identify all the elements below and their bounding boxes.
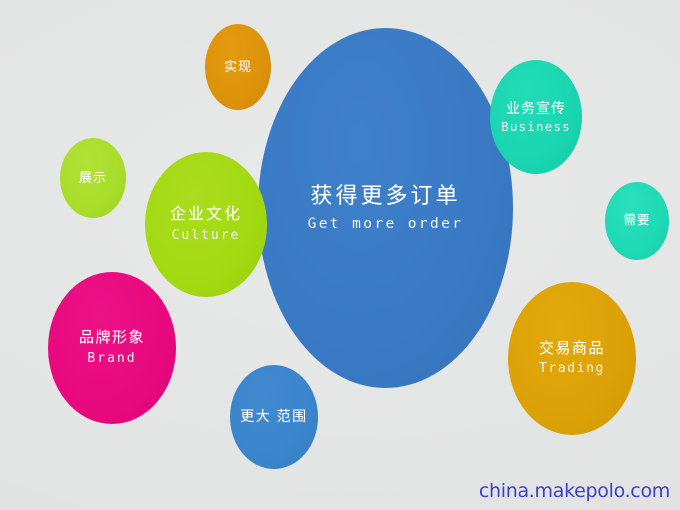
bubble-get-more-order[interactable]: 获得更多订单 Get more order <box>258 28 513 388</box>
bubble-label-en: Culture <box>172 228 241 244</box>
bubble-label-cn: 实现 <box>224 59 252 75</box>
bubble-label-cn: 展示 <box>79 170 107 186</box>
bubble-label-en: Brand <box>87 351 136 367</box>
watermark: china.makepolo.com <box>479 480 670 502</box>
bubble-label-en: Business <box>501 119 571 134</box>
bubble-xuyao[interactable]: 需要 <box>605 182 669 260</box>
bubble-label-cn: 业务宣传 <box>506 100 566 117</box>
bubble-label-cn: 需要 <box>623 213 650 228</box>
bubble-label-cn: 品牌形象 <box>79 329 145 347</box>
bubble-label-cn: 交易商品 <box>539 340 605 358</box>
bubble-label-en: Trading <box>539 361 605 377</box>
bubble-label-cn: 更大 范围 <box>240 408 307 425</box>
bubble-brand[interactable]: 品牌形象 Brand <box>48 272 176 424</box>
bubble-business[interactable]: 业务宣传 Business <box>490 60 582 174</box>
bubble-label-cn: 获得更多订单 <box>310 183 460 210</box>
bubble-larger-scope[interactable]: 更大 范围 <box>230 365 318 469</box>
bubble-label-cn: 企业文化 <box>170 205 242 225</box>
bubble-shixian[interactable]: 实现 <box>205 24 271 110</box>
bubble-label-en: Get more order <box>308 216 464 234</box>
infographic-canvas: 获得更多订单 Get more order 实现 展示 企业文化 Culture… <box>0 0 680 510</box>
bubble-culture[interactable]: 企业文化 Culture <box>145 152 267 297</box>
bubble-zhanshi[interactable]: 展示 <box>60 138 126 218</box>
bubble-trading[interactable]: 交易商品 Trading <box>508 282 636 435</box>
